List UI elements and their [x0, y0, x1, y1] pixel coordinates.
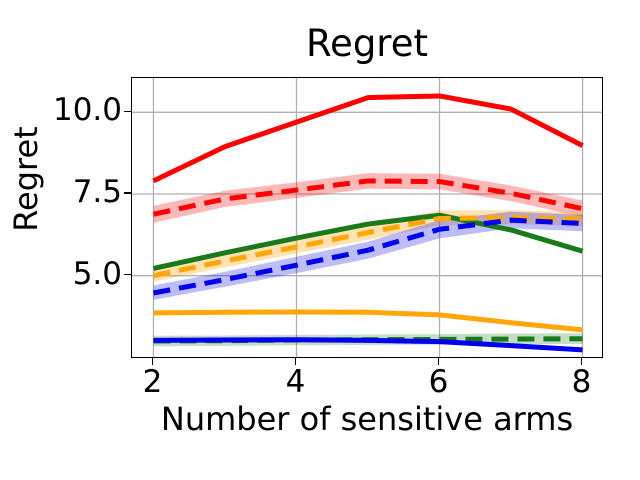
- x-tick-label: 2: [122, 365, 182, 399]
- x-tick-mark: [295, 358, 297, 365]
- x-tick-label: 8: [552, 365, 612, 399]
- regret-line-chart-figure: Regret Regret 5.07.510.0 2468 Number of …: [0, 0, 640, 480]
- x-tick-mark: [152, 358, 154, 365]
- x-axis-label: Number of sensitive arms: [131, 400, 603, 438]
- x-tick-label: 6: [409, 365, 469, 399]
- x-tick-mark: [581, 358, 583, 365]
- x-tick-label: 4: [265, 365, 325, 399]
- x-tick-mark: [438, 358, 440, 365]
